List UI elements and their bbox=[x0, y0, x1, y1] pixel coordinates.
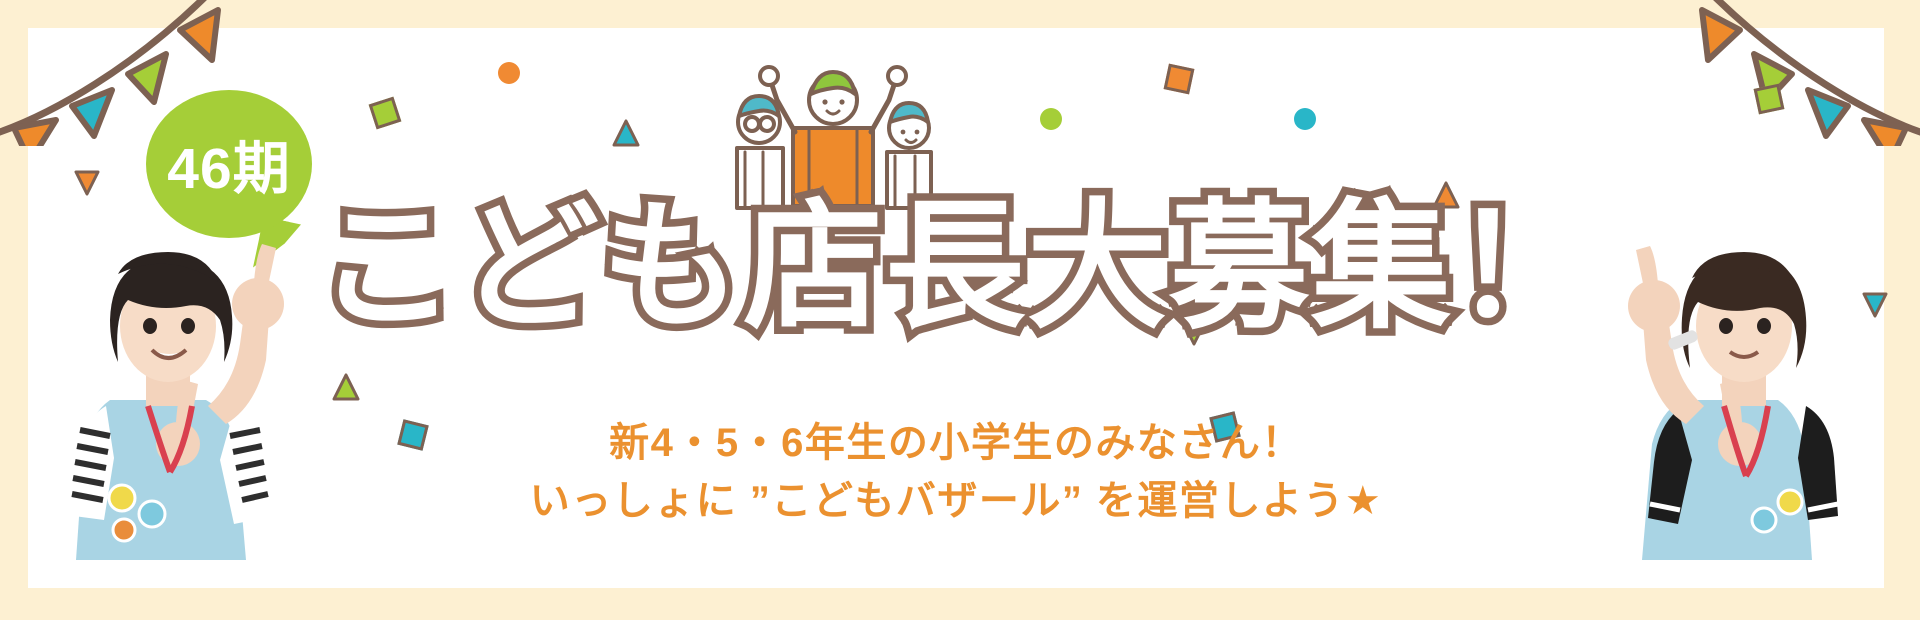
girl-pointing-photo-right bbox=[1604, 230, 1854, 560]
girl-pointing-photo-left bbox=[58, 230, 308, 560]
banner-card: 46期 こども店長大募集！ 新4・5・6年生の小学生のみなさん！ いっしょに ”… bbox=[28, 28, 1884, 588]
banner-root: 46期 こども店長大募集！ 新4・5・6年生の小学生のみなさん！ いっしょに ”… bbox=[0, 0, 1920, 620]
